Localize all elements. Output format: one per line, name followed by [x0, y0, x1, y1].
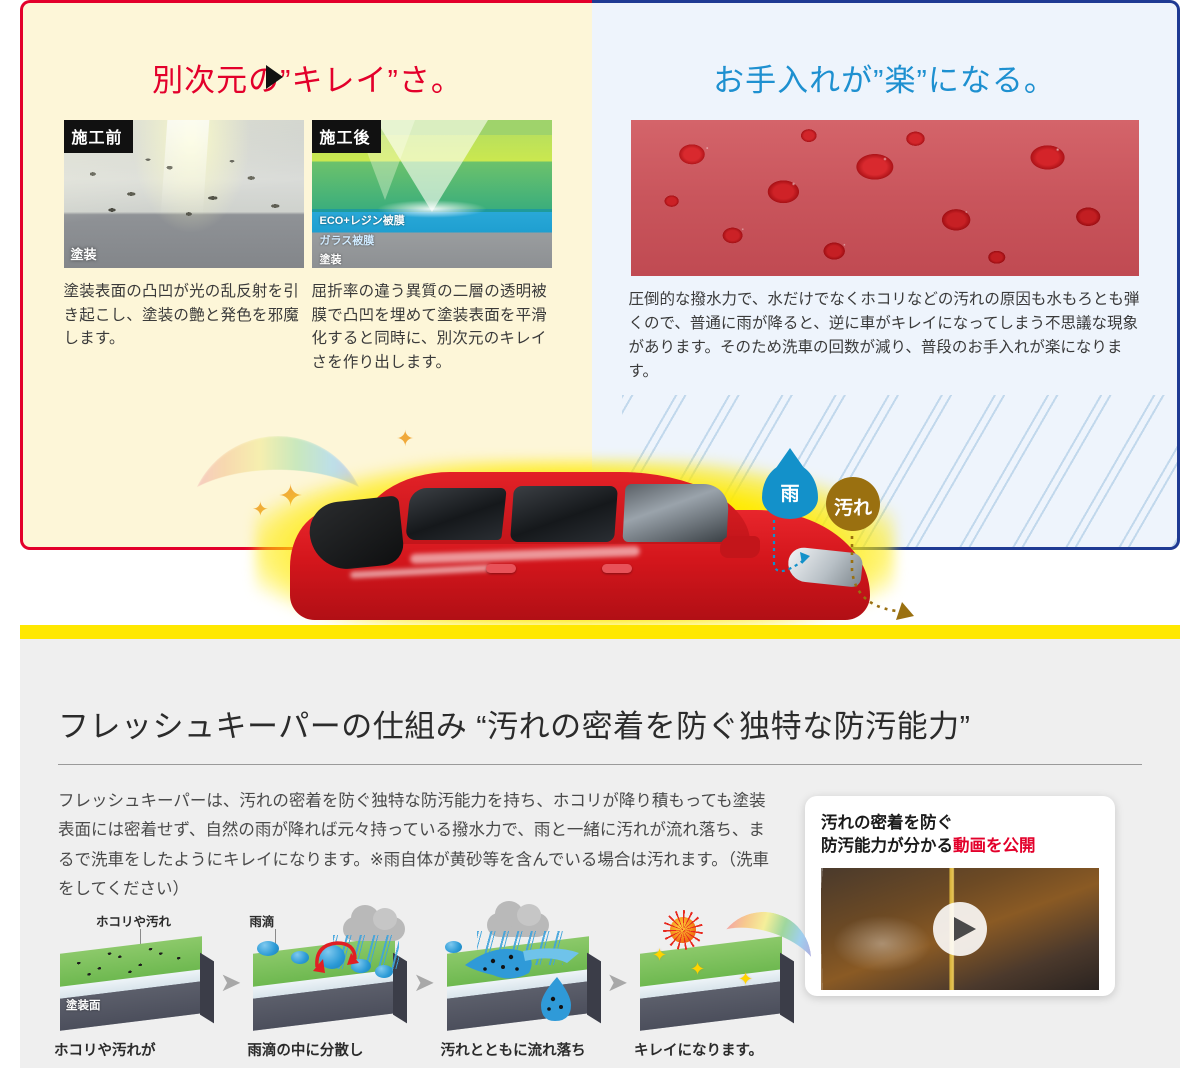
- process-step: ホコリや汚れ 塗装面 ホコリや汚れが: [54, 911, 214, 1029]
- figure-before: 施工前 塗装: [64, 120, 304, 268]
- sparkle-icon: ✦: [690, 959, 705, 980]
- top-feature-area: 別次元の”キレイ”さ。 施工前 塗装 施工後 ECO+レジン被膜 ガラス被膜: [0, 0, 1200, 625]
- light-cone-icon: [376, 120, 488, 212]
- step-2-callout: 雨滴: [249, 911, 274, 930]
- sparkle-icon: ✦: [652, 945, 667, 966]
- rough-surface-texture: [64, 150, 304, 230]
- water-beading-photo: [631, 120, 1139, 276]
- section-title: フレッシュキーパーの仕組み “汚れの密着を防ぐ独特な防汚能力”: [58, 701, 1180, 746]
- sparkle-icon: ✦: [396, 428, 414, 450]
- car-side-mirror: [720, 536, 760, 558]
- process-step: 汚れとともに流れ落ち: [441, 911, 601, 1029]
- step-2-caption: 雨滴の中に分散し: [247, 1039, 363, 1060]
- caption-after: 屈折率の違う異質の二層の透明被膜で凸凹を埋めて塗装表面を平滑化すると同時に、別次…: [312, 280, 552, 374]
- video-thumbnail[interactable]: [821, 868, 1099, 990]
- panel-easy-care-title: お手入れが”楽”になる。: [592, 55, 1177, 100]
- before-after-figures: 施工前 塗装 施工後 ECO+レジン被膜 ガラス被膜 塗装: [23, 120, 592, 268]
- caption-easy-care: 圧倒的な撥水力で、水だけでなくホコリなどの汚れの原因も水もろとも弾くので、普通に…: [629, 288, 1141, 384]
- sparkle-icon: ✦: [738, 969, 753, 990]
- arrow-right-icon: [266, 65, 283, 89]
- car-illustration: ✦ ✦ ✦: [0, 410, 1200, 625]
- rain-drop-badge-label: 雨: [762, 479, 818, 506]
- figure-after-badge: 施工後: [312, 120, 381, 153]
- car-door-handle: [602, 564, 632, 573]
- step-1-callout: ホコリや汚れ: [96, 911, 171, 930]
- process-steps: ホコリや汚れ 塗装面 ホコリや汚れが ➤ 雨滴: [54, 911, 794, 1029]
- paint-slab: 塗装面: [54, 945, 214, 1029]
- process-step: ✦ ✦ ✦ キレイになります。: [634, 911, 794, 1029]
- process-step: 雨滴 雨滴の中に分散し: [247, 911, 407, 1029]
- before-after-captions: 塗装表面の凸凹が光の乱反射を引き起こし、塗装の艶と発色を邪魔します。 屈折率の違…: [23, 280, 592, 374]
- step-arrow-icon: ➤: [411, 969, 436, 995]
- sun-icon: [670, 917, 696, 943]
- step-1-surface-label: 塗装面: [66, 997, 101, 1013]
- layer-label-paint: 塗装: [320, 251, 342, 267]
- dirt-circle-badge-label: 汚れ: [826, 493, 880, 520]
- video-promo-card[interactable]: 汚れの密着を防ぐ 防汚能力が分かる動画を公開: [805, 796, 1115, 996]
- caption-before: 塗装表面の凸凹が光の乱反射を引き起こし、塗装の艶と発色を邪魔します。: [64, 280, 304, 374]
- mechanism-section: フレッシュキーパーの仕組み “汚れの密着を防ぐ独特な防汚能力” フレッシュキーパ…: [20, 639, 1180, 1068]
- step-arrow-icon: ➤: [218, 969, 243, 995]
- figure-after: 施工後 ECO+レジン被膜 ガラス被膜 塗装: [312, 120, 552, 268]
- panel-beauty-title: 別次元の”キレイ”さ。: [23, 55, 592, 100]
- play-icon[interactable]: [933, 902, 987, 956]
- car-windshield: [622, 484, 729, 542]
- layer-label-glass: ガラス被膜: [320, 232, 375, 248]
- yellow-divider-bar: [20, 625, 1180, 639]
- car-window-rear: [405, 488, 506, 540]
- layer-label-eco-resin: ECO+レジン被膜: [320, 212, 405, 228]
- video-card-line1: 汚れの密着を防ぐ: [821, 812, 1099, 835]
- step-4-caption: キレイになります。: [634, 1039, 763, 1060]
- dirty-droplet-icon: [537, 975, 581, 1029]
- video-card-line2: 防汚能力が分かる動画を公開: [821, 835, 1099, 858]
- step-arrow-icon: ➤: [605, 969, 630, 995]
- car-door-handle: [486, 564, 516, 573]
- step-3-caption: 汚れとともに流れ落ち: [441, 1039, 586, 1060]
- video-card-line2-plain: 防汚能力が分かる: [821, 837, 953, 855]
- section-divider: [58, 764, 1142, 765]
- figure-before-badge: 施工前: [64, 120, 133, 153]
- slab-side-face: [587, 953, 601, 1024]
- section-body-text: フレッシュキーパーは、汚れの密着を防ぐ独特な防汚能力を持ち、ホコリが降り積もって…: [58, 787, 770, 904]
- car-window-middle: [510, 486, 618, 542]
- figure-before-base-label: 塗装: [71, 244, 97, 263]
- step-1-caption: ホコリや汚れが: [54, 1039, 156, 1060]
- slab-side-face: [200, 953, 214, 1024]
- video-card-line2-emphasis: 動画を公開: [953, 837, 1036, 855]
- paint-slab: [441, 945, 601, 1029]
- swirl-arrow-icon: [309, 937, 361, 979]
- dirt-runoff-arrow-icon: [832, 528, 972, 648]
